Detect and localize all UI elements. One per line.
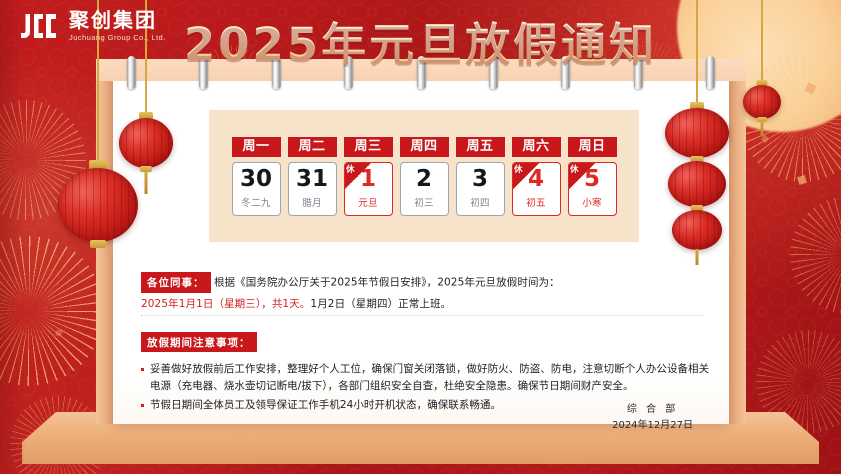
notice-body-2: 1月2日（星期四）正常上班。: [310, 298, 451, 310]
weekday-header: 周六: [512, 137, 561, 157]
calendar-day-cell: 休 1 元旦: [344, 162, 393, 216]
day-lunar-label: 冬二九: [241, 195, 270, 209]
day-lunar-label: 初三: [414, 195, 434, 209]
signature-department: 综 合 部: [612, 402, 693, 418]
notice-line-2: 2025年1月1日（星期三），共1天。1月2日（星期四）正常上班。: [141, 296, 703, 313]
day-lunar-label: 腊月: [302, 195, 322, 209]
day-lunar-label: 初五: [526, 195, 546, 209]
weekday-header: 周一: [232, 137, 281, 157]
page-title: 2025年元旦放假通知: [0, 8, 841, 73]
day-number: 31: [296, 168, 328, 191]
weekday-header: 周四: [400, 137, 449, 157]
card-body: 周一 30 冬二九 周二 31 腊月 周三: [113, 72, 729, 424]
calendar-column: 周三 休 1 元旦: [344, 137, 393, 216]
calendar-column: 周四 2 初三: [400, 137, 449, 216]
notice-section: 各位同事： 根据《国务院办公厅关于2025年节假日安排》，2025年元旦放假时间…: [141, 272, 703, 314]
day-number: 30: [240, 168, 272, 191]
rest-day-badge: 休: [513, 163, 539, 189]
reminders-tag: 放假期间注意事项：: [141, 332, 257, 352]
day-number: 3: [472, 168, 488, 191]
day-lunar-label: 元旦: [358, 195, 378, 209]
calendar-day-cell: 2 初三: [400, 162, 449, 216]
rest-day-label: 休: [570, 163, 579, 175]
rest-day-label: 休: [514, 163, 523, 175]
signature-date: 2024年12月27日: [612, 418, 693, 434]
calendar-column: 周二 31 腊月: [288, 137, 337, 216]
calendar-grid: 周一 30 冬二九 周二 31 腊月 周三: [232, 137, 617, 216]
calendar-day-cell: 3 初四: [456, 162, 505, 216]
calendar-column: 周日 休 5 小寒: [568, 137, 617, 216]
signature-block: 综 合 部 2024年12月27日: [612, 402, 693, 434]
calendar-column: 周五 3 初四: [456, 137, 505, 216]
holiday-calendar: 周一 30 冬二九 周二 31 腊月 周三: [209, 110, 639, 242]
day-lunar-label: 初四: [470, 195, 490, 209]
rest-day-label: 休: [346, 163, 355, 175]
notice-body-1: 根据《国务院办公厅关于2025年节假日安排》，2025年元旦放假时间为：: [214, 277, 560, 289]
calendar-column: 周一 30 冬二九: [232, 137, 281, 216]
weekday-header: 周五: [456, 137, 505, 157]
notice-line-1: 各位同事： 根据《国务院办公厅关于2025年节假日安排》，2025年元旦放假时间…: [141, 272, 703, 293]
weekday-header: 周二: [288, 137, 337, 157]
calendar-day-cell: 休 5 小寒: [568, 162, 617, 216]
weekday-header: 周日: [568, 137, 617, 157]
rest-day-badge: 休: [569, 163, 595, 189]
holiday-notice-poster: 聚创集团 Juchuang Group Co., Ltd. 2025年元旦放假通…: [0, 0, 841, 474]
calendar-day-cell: 休 4 初五: [512, 162, 561, 216]
notice-card: 周一 30 冬二九 周二 31 腊月 周三: [96, 72, 746, 424]
weekday-header: 周三: [344, 137, 393, 157]
day-number: 2: [416, 168, 432, 191]
section-divider: [141, 315, 703, 316]
day-lunar-label: 小寒: [582, 195, 602, 209]
rest-day-badge: 休: [345, 163, 371, 189]
notice-highlight: 2025年1月1日（星期三），共1天。: [141, 298, 310, 310]
salutation-tag: 各位同事：: [141, 272, 211, 293]
list-item: 妥善做好放假前后工作安排，整理好个人工位，确保门窗关闭落锁，做好防火、防盗、防电…: [141, 361, 711, 395]
calendar-day-cell: 31 腊月: [288, 162, 337, 216]
calendar-day-cell: 30 冬二九: [232, 162, 281, 216]
calendar-column: 周六 休 4 初五: [512, 137, 561, 216]
